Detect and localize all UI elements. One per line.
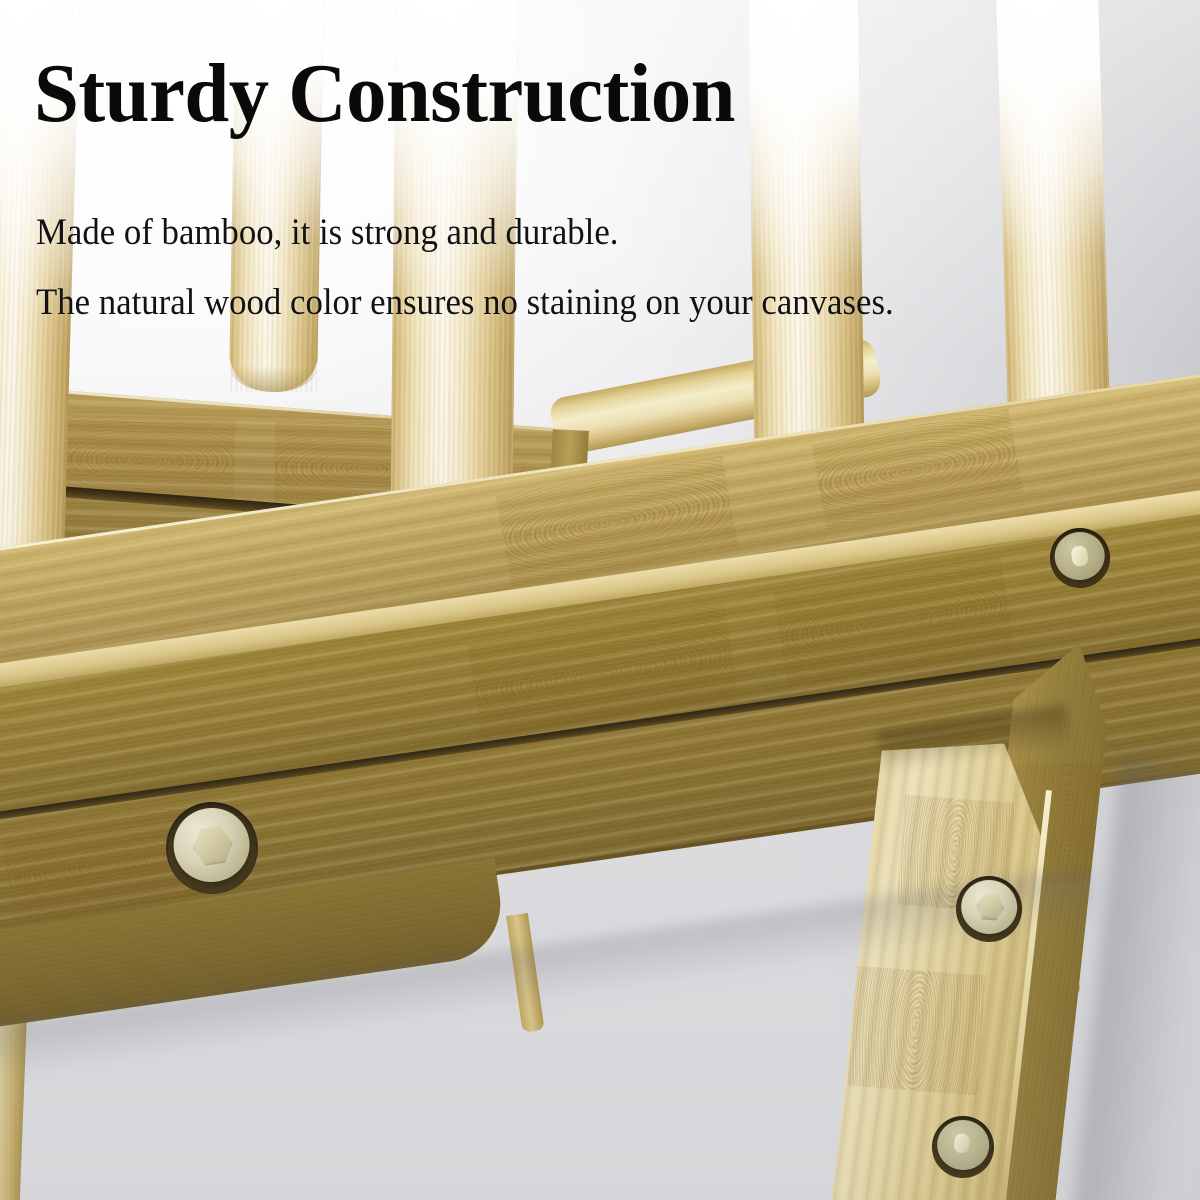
product-photo-scene: Sturdy Construction Made of bamboo, it i… [0, 0, 1200, 1200]
page-title: Sturdy Construction [34, 52, 735, 136]
screw-leg-upper [953, 873, 1025, 945]
partition-fin [506, 913, 545, 1033]
screw-leg-lower [929, 1113, 996, 1180]
screw-front-rail-left [160, 796, 264, 900]
bamboo-dowel-5 [996, 0, 1111, 451]
screw-top-rail-right [1046, 524, 1114, 592]
body-line-1: Made of bamboo, it is strong and durable… [36, 214, 618, 251]
body-line-2: The natural wood color ensures no staini… [36, 284, 894, 321]
